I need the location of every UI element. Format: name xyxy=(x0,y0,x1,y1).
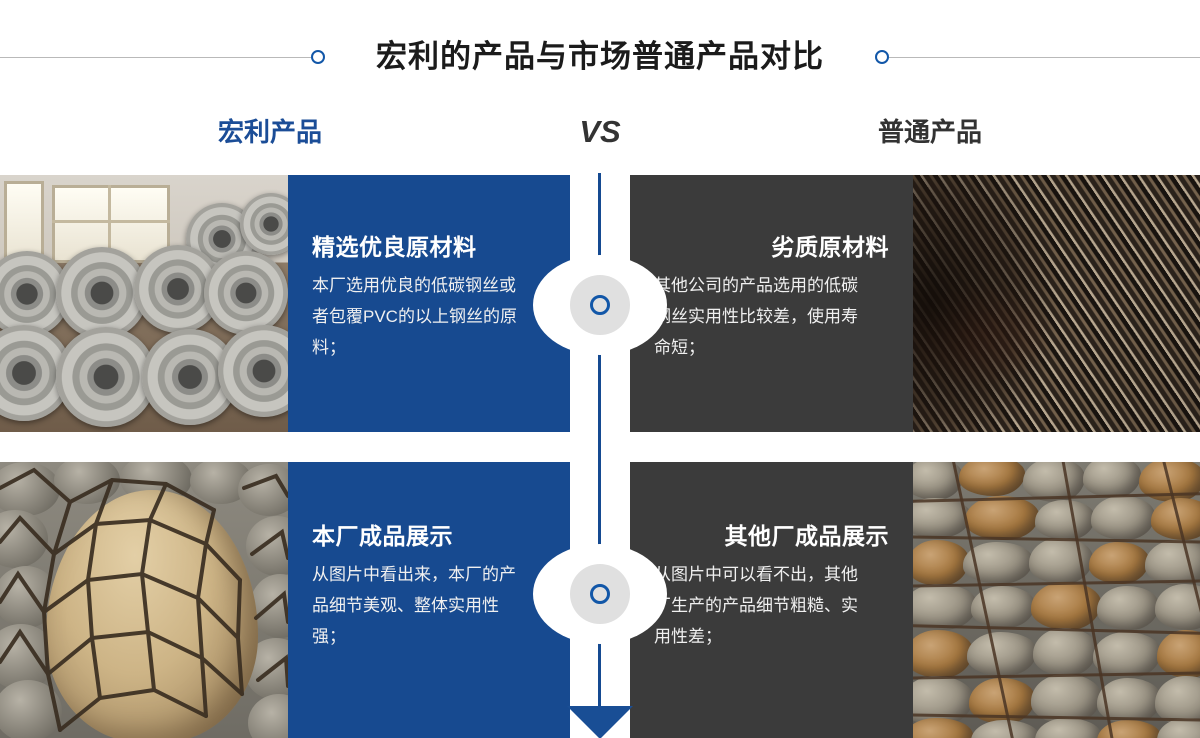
panel-body: 其他公司的产品选用的低碳钢丝实用性比较差，使用寿命短； xyxy=(654,270,872,363)
column-label-ours: 宏利产品 xyxy=(218,112,322,152)
panel-body: 本厂选用优良的低碳钢丝或者包覆PVC的以上钢丝的原料； xyxy=(312,270,530,363)
spine-node-2 xyxy=(533,544,667,644)
circle-node-icon xyxy=(590,295,610,315)
panel-advantage-2: 本厂成品展示 从图片中看出来，本厂的产品细节美观、整体实用性强； xyxy=(288,462,570,738)
header: 宏利的产品与市场普通产品对比 xyxy=(0,0,1200,100)
circle-node-icon xyxy=(590,584,610,604)
panel-title: 其他厂成品展示 xyxy=(725,517,890,551)
panel-title: 精选优良原材料 xyxy=(312,228,477,262)
spine-node-1 xyxy=(533,255,667,355)
panel-body: 从图片中可以看不出，其他厂生产的产品细节粗糙、实用性差； xyxy=(654,559,872,652)
column-labels: 宏利产品 VS 普通产品 xyxy=(0,112,1200,162)
panel-body: 从图片中看出来，本厂的产品细节美观、整体实用性强； xyxy=(312,559,530,652)
photo-low-carbon-wire-coil-closeup xyxy=(913,175,1200,432)
photo-gabion-mesh-boulder xyxy=(0,462,288,738)
photo-steel-wire-coils-warehouse xyxy=(0,175,288,432)
triangle-down-icon xyxy=(567,706,633,738)
comparison-infographic: 宏利的产品与市场普通产品对比 宏利产品 VS 普通产品 xyxy=(0,0,1200,738)
versus-label: VS xyxy=(570,112,630,152)
photo-rough-gabion-stone-wall xyxy=(913,462,1200,738)
panel-drawback-1: 劣质原材料 其他公司的产品选用的低碳钢丝实用性比较差，使用寿命短； xyxy=(630,175,913,432)
panel-title: 本厂成品展示 xyxy=(312,517,453,551)
circle-marker-icon-right xyxy=(875,50,889,64)
column-label-ordinary: 普通产品 xyxy=(700,112,982,152)
panel-advantage-1: 精选优良原材料 本厂选用优良的低碳钢丝或者包覆PVC的以上钢丝的原料； xyxy=(288,175,570,432)
panel-drawback-2: 其他厂成品展示 从图片中可以看不出，其他厂生产的产品细节粗糙、实用性差； xyxy=(630,462,913,738)
panel-title: 劣质原材料 xyxy=(772,228,890,262)
header-rule-right xyxy=(889,57,1200,58)
